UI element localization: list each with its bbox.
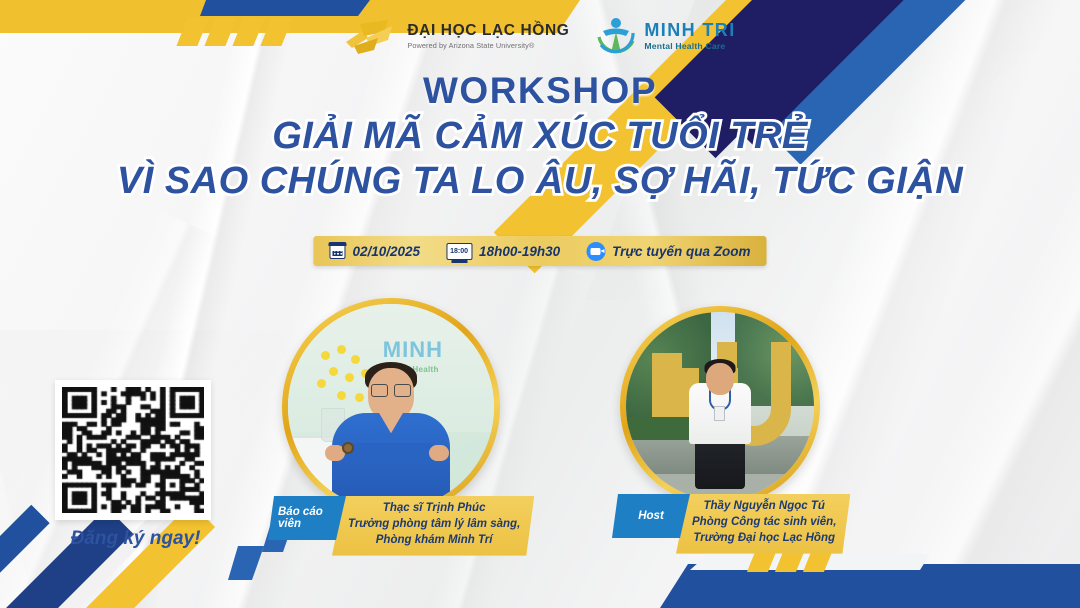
university-tagline: Powered by Arizona State University® (407, 42, 569, 49)
bottom-right-blue-bar (660, 564, 1080, 608)
speaker-title-line-2: Phòng khám Minh Trí (348, 533, 520, 549)
speaker-detail-panel: Thạc sĩ Trịnh Phúc Trưởng phòng tâm lý l… (332, 496, 534, 556)
speaker-photo-trinh-phuc: MINHMental Health (288, 304, 494, 510)
speaker-role-tag: Báo cáo viên (268, 496, 346, 540)
info-item-date: 02/10/2025 (329, 243, 420, 259)
logo-row: ĐẠI HỌC LẠC HỒNG Powered by Arizona Stat… (0, 8, 1080, 64)
info-item-platform: Trực tuyến qua Zoom (586, 242, 750, 261)
registration-cta: Đăng ký ngay! (53, 528, 218, 550)
host-title-line-1: Phòng Công tác sinh viên, (692, 515, 836, 531)
event-info-bar: 02/10/2025 18:00 18h00-19h30 Trực tuyến … (313, 236, 766, 266)
workshop-poster: ĐẠI HỌC LẠC HỒNG Powered by Arizona Stat… (0, 0, 1080, 608)
partner-name: MINH TRI (644, 21, 735, 39)
host-detail-panel: Thầy Nguyễn Ngọc Tú Phòng Công tác sinh … (676, 494, 850, 554)
title-line-2: VÌ SAO CHÚNG TA LO ÂU, SỢ HÃI, TỨC GIẬN (0, 160, 1080, 203)
university-name: ĐẠI HỌC LẠC HỒNG (407, 23, 569, 39)
host-label-row: Host Thầy Nguyễn Ngọc Tú Phòng Công tác … (612, 494, 842, 554)
title-block: WORKSHOP GIẢI MÃ CẢM XÚC TUỔI TRẺGIẢI MÃ… (0, 72, 1080, 203)
event-date: 02/10/2025 (352, 244, 420, 259)
digital-clock-icon: 18:00 (446, 243, 472, 260)
host-title-line-2: Trường Đại học Lạc Hồng (692, 531, 836, 547)
minh-tri-person-swoosh-logo-icon (595, 15, 637, 57)
university-logo: ĐẠI HỌC LẠC HỒNG Powered by Arizona Stat… (344, 16, 569, 56)
speaker-card: Host Thầy Nguyễn Ngọc Tú Phòng Công tác … (620, 306, 842, 554)
registration-qr-code[interactable] (55, 380, 211, 520)
host-role-tag: Host (612, 494, 690, 538)
zoom-video-icon (586, 242, 605, 261)
event-time: 18h00-19h30 (479, 244, 560, 259)
host-photo-frame (620, 306, 820, 506)
info-item-time: 18:00 18h00-19h30 (446, 243, 560, 260)
host-photo-nguyen-ngoc-tu (626, 312, 814, 500)
speaker-photo-frame: MINHMental Health (282, 298, 500, 516)
partner-tagline: Mental Health Care (644, 42, 735, 51)
workshop-kicker: WORKSHOP (0, 72, 1080, 111)
lac-hong-arrow-logo-icon (344, 16, 400, 56)
speaker-card: MINHMental Health (282, 298, 520, 556)
host-name: Thầy Nguyễn Ngọc Tú (692, 499, 836, 515)
partner-logo: MINH TRI Mental Health Care (595, 15, 735, 57)
calendar-icon (329, 243, 345, 259)
speaker-title-line-1: Trưởng phòng tâm lý lâm sàng, (348, 517, 520, 533)
title-line-1: GIẢI MÃ CẢM XÚC TUỔI TRẺ (0, 115, 1080, 158)
event-platform: Trực tuyến qua Zoom (612, 244, 750, 259)
qr-canvas (62, 387, 204, 513)
speaker-label-row: Báo cáo viên Thạc sĩ Trịnh Phúc Trưởng p… (268, 496, 520, 556)
speaker-name: Thạc sĩ Trịnh Phúc (348, 501, 520, 517)
clock-icon-label: 18:00 (450, 248, 468, 255)
